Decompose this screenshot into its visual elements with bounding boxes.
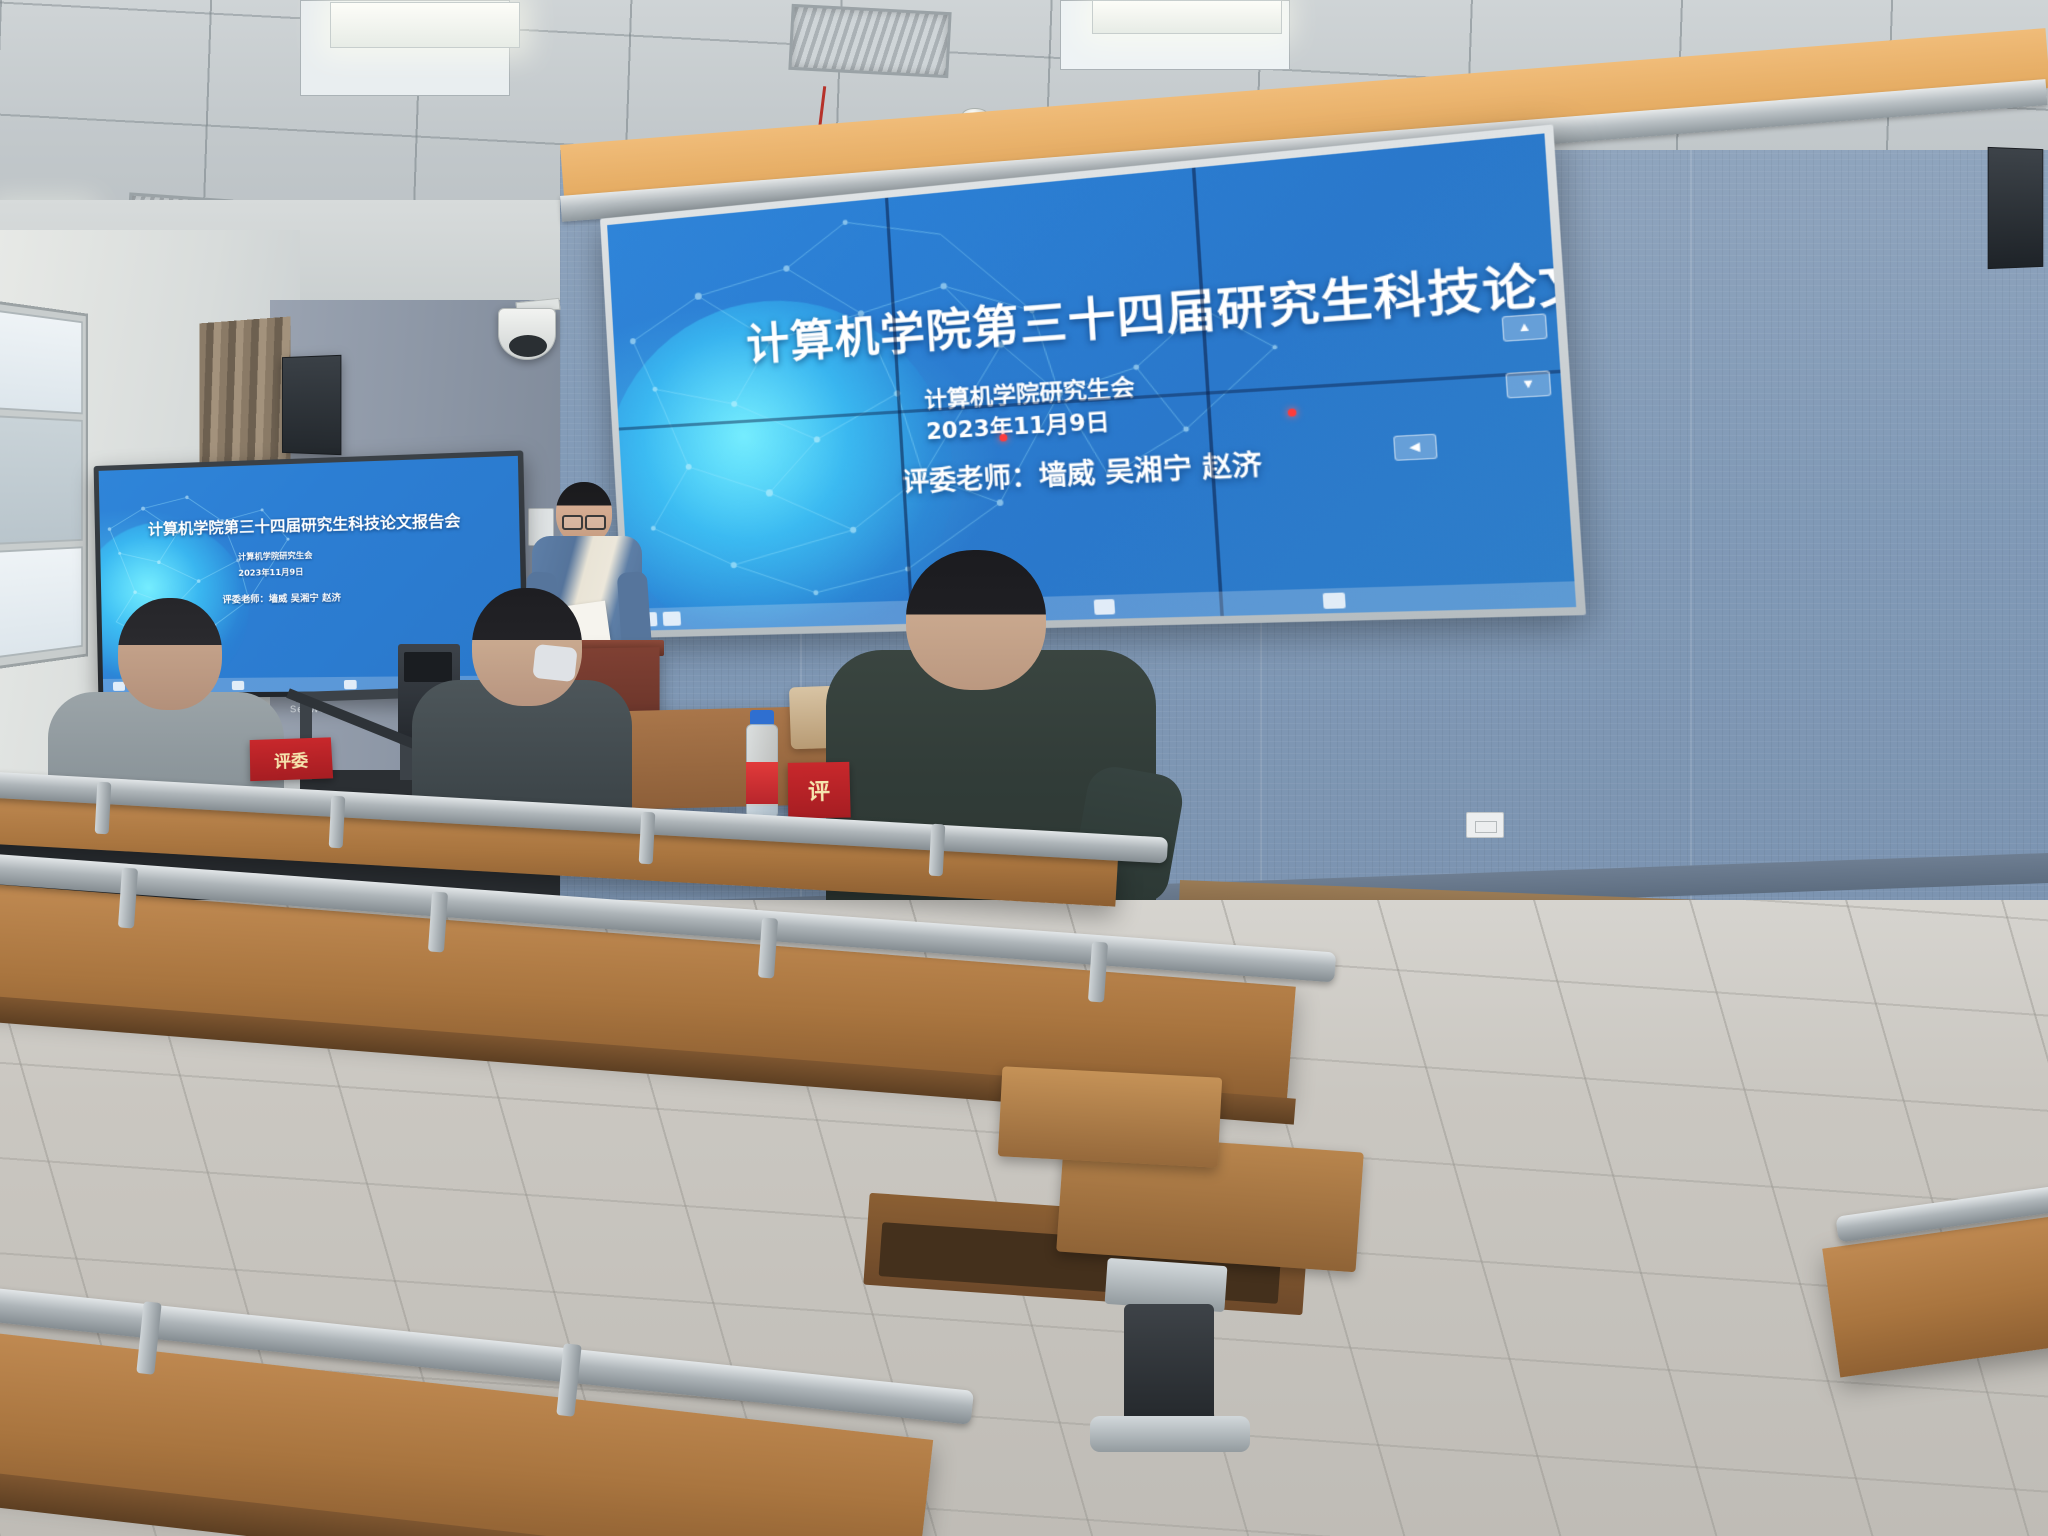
ceiling-light	[1092, 0, 1282, 34]
presenter-glasses	[562, 515, 606, 526]
window-pane	[0, 546, 83, 658]
led-video-wall-screen[interactable]: 计算机学院第三十四届研究生科技论文报告会 计算机学院研究生会 2023年11月9…	[607, 133, 1576, 630]
wall-seam	[1690, 150, 1692, 970]
attendee-front-right-head	[906, 550, 1046, 690]
wall-power-socket[interactable]	[1466, 812, 1504, 838]
taskbar-app-icon[interactable]	[344, 679, 357, 688]
wall-speaker-right	[1988, 147, 2044, 269]
ceiling-light	[330, 2, 520, 48]
wall-speaker-left	[282, 355, 341, 455]
taskbar-app-icon[interactable]	[663, 611, 682, 626]
name-placard-judge-right: 评	[788, 762, 851, 819]
av-cabinet-panel	[404, 652, 452, 682]
chair-base	[1090, 1416, 1250, 1452]
attendee-face-mask	[532, 644, 577, 682]
osd-scroll-up-button[interactable]: ▲	[1502, 314, 1548, 343]
osd-scroll-down-button[interactable]: ▼	[1505, 370, 1551, 398]
taskbar-app-icon[interactable]	[232, 680, 244, 689]
lecture-hall-scene: 计算机学院第三十四届研究生科技论文报告会 计算机学院研究生会 2023年11月9…	[0, 0, 2048, 1536]
taskbar-app-icon[interactable]	[1094, 599, 1115, 615]
chair-pedestal	[1124, 1304, 1214, 1424]
desk-rail-post	[639, 812, 656, 865]
desk-rail-post	[95, 782, 112, 835]
osd-back-button[interactable]: ◀	[1393, 433, 1438, 460]
taskbar-app-icon[interactable]	[1323, 593, 1346, 609]
ceiling-air-vent	[788, 4, 951, 78]
window-pane	[0, 415, 83, 544]
name-placard-judge-left: 评委	[250, 737, 333, 781]
attendee-front-left-head	[118, 598, 222, 710]
dome-security-camera	[498, 308, 556, 360]
desk-rail-post	[329, 796, 346, 849]
whiteboard-subtitle-organizer: 计算机学院研究生会	[238, 550, 313, 563]
desk-rail-post	[929, 824, 946, 877]
bottle-label	[746, 762, 778, 804]
seat-arm-right[interactable]	[998, 1066, 1222, 1167]
window	[0, 300, 88, 670]
whiteboard-judges-line: 评委老师：墙威 吴湘宁 赵济	[222, 591, 341, 607]
whiteboard-subtitle-date: 2023年11月9日	[238, 566, 303, 579]
window-pane	[0, 310, 83, 414]
presenter-head	[556, 482, 612, 544]
